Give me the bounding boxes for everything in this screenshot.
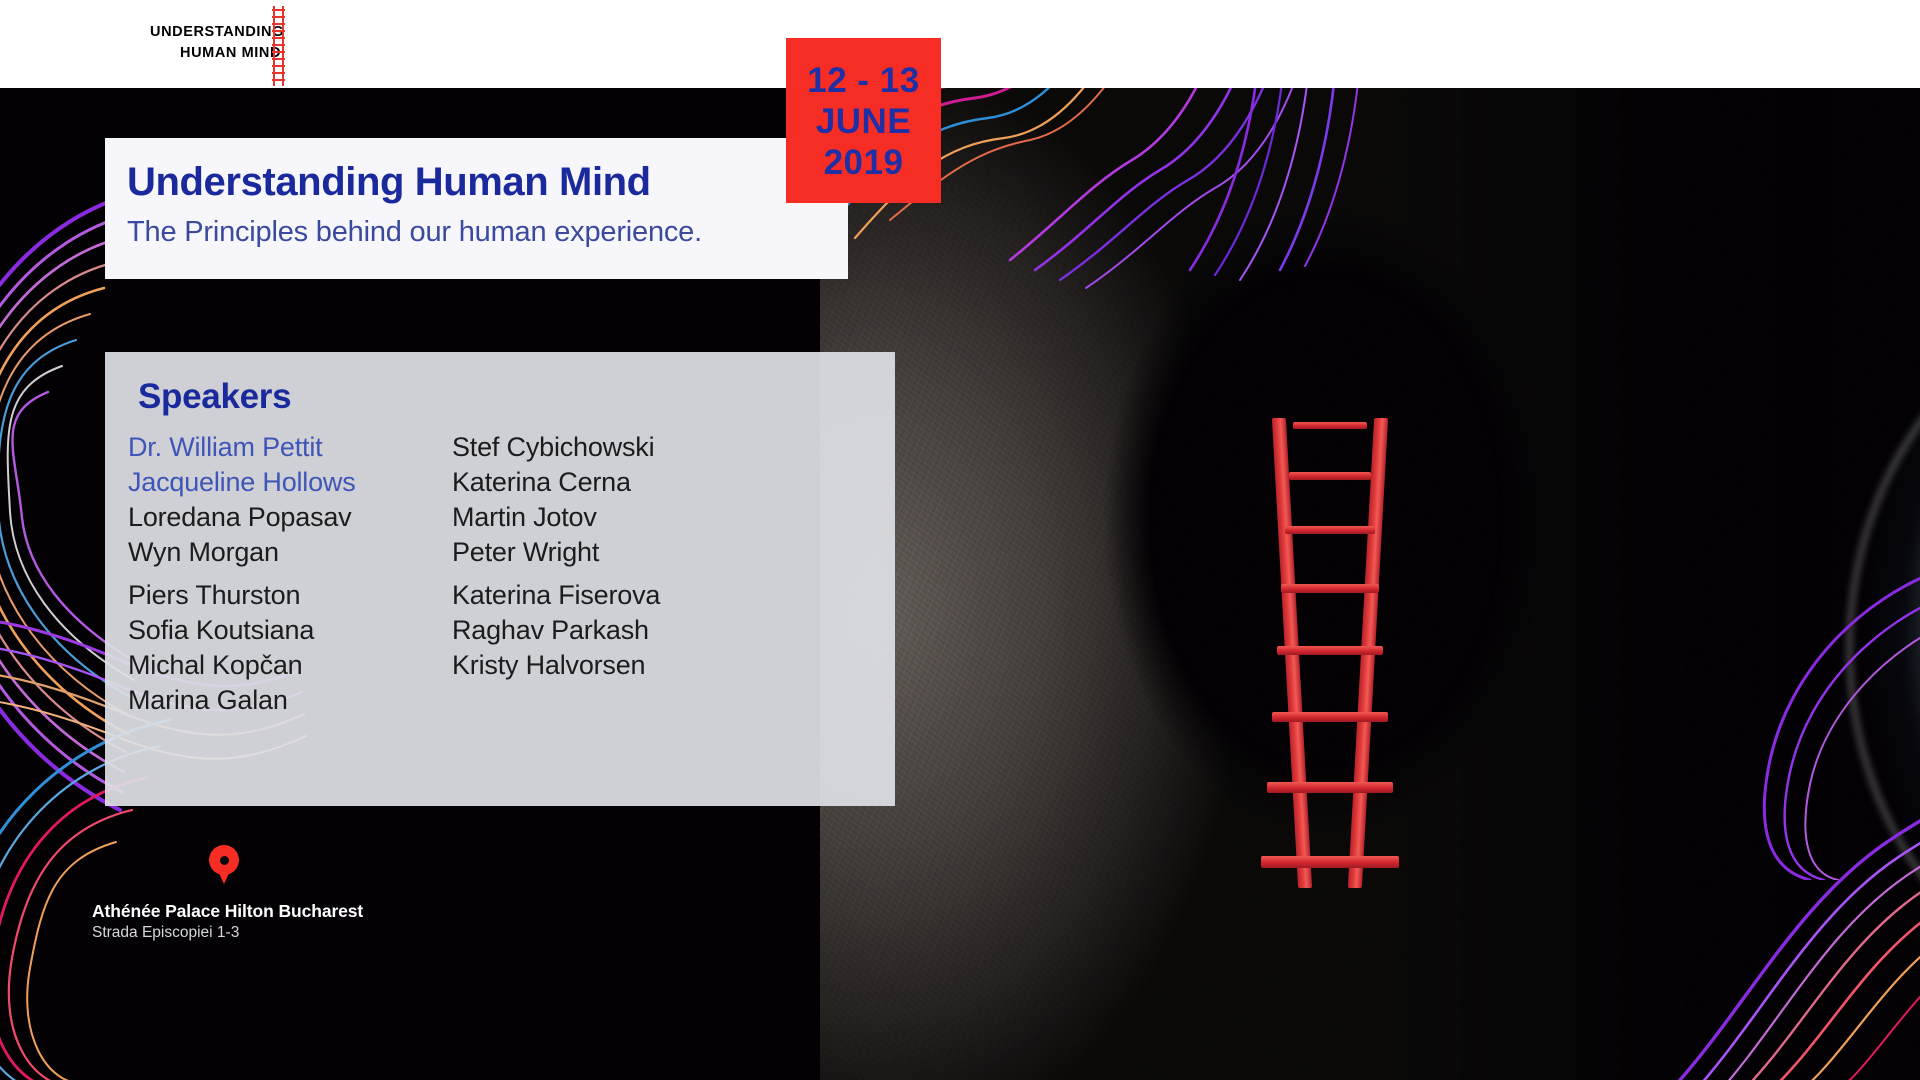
speaker-name: Peter Wright bbox=[452, 535, 835, 570]
speaker-name: Marina Galan bbox=[128, 683, 435, 718]
speakers-column-left: Dr. William PettitJacqueline HollowsLore… bbox=[105, 430, 435, 718]
speakers-columns: Dr. William PettitJacqueline HollowsLore… bbox=[105, 430, 895, 718]
red-ladder-graphic bbox=[1255, 418, 1405, 888]
speaker-name: Raghav Parkash bbox=[452, 613, 835, 648]
venue-name: Athénée Palace Hilton Bucharest bbox=[92, 900, 363, 922]
page-title: Understanding Human Mind bbox=[127, 159, 848, 205]
speaker-name: Kristy Halvorsen bbox=[452, 648, 835, 683]
speaker-name: Sofia Koutsiana bbox=[128, 613, 435, 648]
date-month: JUNE bbox=[816, 101, 911, 142]
event-poster: UNDERSTANDING HUMAN MIND 12 - 13 JUNE 20… bbox=[0, 0, 1920, 1080]
venue-address: Strada Episcopiei 1-3 bbox=[92, 923, 239, 943]
speaker-name[interactable]: Jacqueline Hollows bbox=[128, 465, 435, 500]
speaker-name: Martin Jotov bbox=[452, 500, 835, 535]
logo-line-1: UNDERSTANDING bbox=[150, 22, 284, 43]
date-days: 12 - 13 bbox=[807, 60, 919, 101]
speakers-panel: Speakers Dr. William PettitJacqueline Ho… bbox=[105, 352, 895, 806]
speaker-name: Loredana Popasav bbox=[128, 500, 435, 535]
date-year: 2019 bbox=[824, 142, 904, 183]
page-subtitle: The Principles behind our human experien… bbox=[127, 214, 848, 250]
speaker-name: Stef Cybichowski bbox=[452, 430, 835, 465]
speakers-heading: Speakers bbox=[138, 376, 895, 418]
location-pin-icon bbox=[209, 845, 239, 885]
speaker-name: Piers Thurston bbox=[128, 578, 435, 613]
speaker-name: Katerina Cerna bbox=[452, 465, 835, 500]
speaker-name[interactable]: Dr. William Pettit bbox=[128, 430, 435, 465]
speakers-column-right: Stef CybichowskiKaterina CernaMartin Jot… bbox=[435, 430, 835, 718]
speaker-name: Michal Kopčan bbox=[128, 648, 435, 683]
logo-line-2: HUMAN MIND bbox=[180, 43, 281, 64]
brand-logo[interactable]: UNDERSTANDING HUMAN MIND bbox=[150, 22, 330, 70]
title-panel: Understanding Human Mind The Principles … bbox=[105, 138, 848, 279]
red-ladder-icon bbox=[272, 6, 285, 86]
speaker-name: Katerina Fiserova bbox=[452, 578, 835, 613]
speaker-name: Wyn Morgan bbox=[128, 535, 435, 570]
date-badge: 12 - 13 JUNE 2019 bbox=[786, 38, 941, 203]
